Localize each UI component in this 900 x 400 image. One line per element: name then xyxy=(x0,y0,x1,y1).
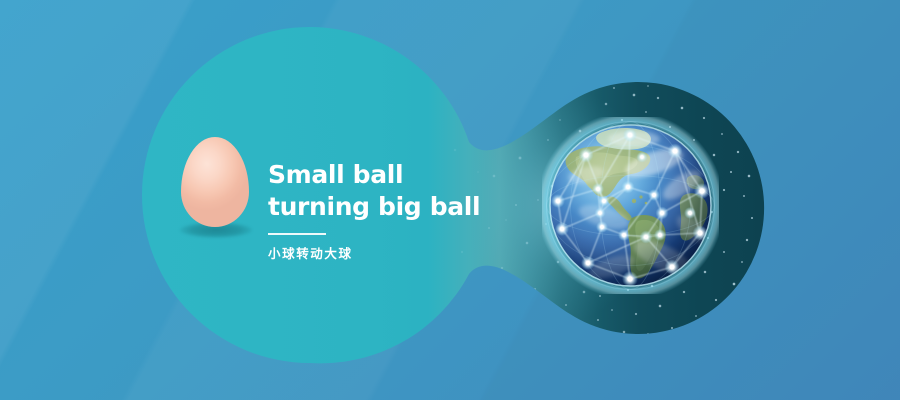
subtitle: 小球转动大球 xyxy=(268,243,478,262)
divider xyxy=(268,233,326,235)
headline-line-2: turning big ball xyxy=(268,192,480,221)
copy-block: Small ballturning big ball 小球转动大球 xyxy=(268,159,478,262)
promo-banner: Small ballturning big ball 小球转动大球 xyxy=(0,0,900,400)
headline-line-1: Small ball xyxy=(268,160,403,189)
page-title: Small ballturning big ball xyxy=(268,159,478,222)
network-globe-icon xyxy=(542,117,719,294)
